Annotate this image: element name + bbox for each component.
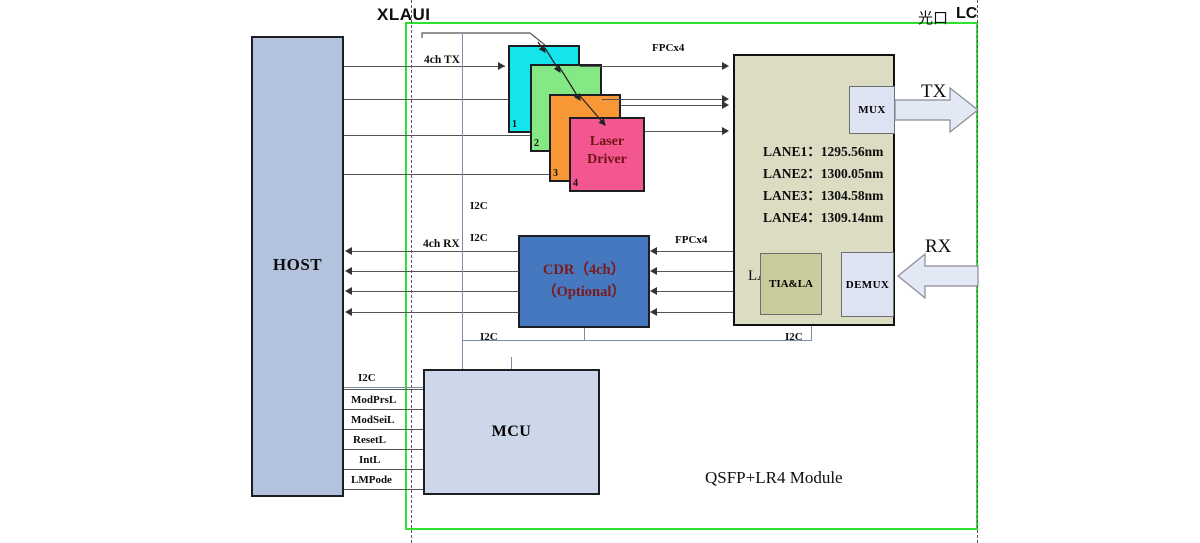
fpc-rx-arrow-2 [650,267,657,275]
fpc-rx-arrow-3 [650,287,657,295]
rx-line-4 [352,312,519,313]
module-name-label: QSFP+LR4 Module [705,468,843,488]
fpc-rx-arrow-4 [650,308,657,316]
fpc-tx-arrow-1 [722,62,729,70]
fpc-tx-line-1 [580,66,725,67]
rx-arrow-2 [345,267,352,275]
rx-line-2 [352,271,519,272]
lan-wdm-lane-2: LANE2：1300.05nm [763,162,883,182]
laser-driver-num-3: 3 [553,168,558,179]
lan-wdm-lane-4: LANE4：1309.14nm [763,206,883,226]
diagram-canvas: XLAUI 光口 LC HOST 4ch TX 1 2 3 4 Laser Dr… [0,0,1200,543]
mcu-signal-line-4 [344,449,423,450]
lan-wdm-lane-3: LANE3：1304.58nm [763,184,883,204]
mcu-signal-label-0: I2C [358,372,376,384]
tx-line-3 [344,135,546,136]
laser-driver-label: Laser Driver [569,133,645,168]
tia-la-block: TIA&LA [760,253,822,315]
laser-driver-num-1: 1 [512,119,517,130]
fpc-tx-line-2 [602,99,725,100]
cdr-label-line2: （Optional） [542,282,626,303]
cdr-block: CDR（4ch） （Optional） [518,235,650,328]
fpc-tx-arrow-3 [722,101,729,109]
host-label: HOST [251,255,344,275]
laser-driver-num-4: 4 [573,178,578,189]
laser-driver-label-line1: Laser [590,134,624,149]
i2c-bus-horizontal [462,340,812,341]
mcu-block: MCU [423,369,600,495]
i2c-label-mid: I2C [470,232,488,244]
mcu-signal-line-1 [344,389,423,390]
fpc-rx-line-1 [656,251,733,252]
mcu-signal-label-4: IntL [359,454,380,466]
laser-driver-num-2: 2 [534,138,539,149]
fpc-tx-arrow-4 [722,127,729,135]
mcu-signal-label-2: ModSeiL [351,414,394,426]
rx-arrow-4 [345,308,352,316]
i2c-stub-mcu [511,357,512,369]
optical-port-label: 光口 [918,7,948,28]
mux-block: MUX [849,86,895,134]
mcu-signal-line-2 [344,409,423,410]
tx-bus-label: 4ch TX [424,54,460,66]
tx-line-2 [344,99,527,100]
xlaui-label: XLAUI [377,5,431,25]
rx-line-3 [352,291,519,292]
mcu-signal-line-6 [344,489,423,490]
mcu-signal-label-3: ResetL [353,434,386,446]
fpc-tx-line-3 [621,105,725,106]
rx-line-1 [352,251,519,252]
fpc-rx-line-3 [656,291,733,292]
i2c-stub-cdr [584,328,585,340]
fpc-rx-line-2 [656,271,733,272]
fpc-rx-line-4 [656,312,733,313]
mcu-signal-label-1: ModPrsL [351,394,396,406]
mcu-signal-line-5 [344,469,423,470]
i2c-mcu-branch [344,387,423,388]
i2c-vertical-main [462,33,463,376]
fpc-rx-arrow-1 [650,247,657,255]
demux-block: DEMUX [841,252,894,317]
boundary-dash-right [977,0,978,543]
mcu-signal-line-3 [344,429,423,430]
i2c-label-cdr: I2C [480,331,498,343]
lc-connector-label: LC [956,5,977,23]
rx-arrow-3 [345,287,352,295]
i2c-label-lanwdm: I2C [785,331,803,343]
tx-line-4 [344,174,566,175]
lan-wdm-lane-1: LANE1：1295.56nm [763,140,883,160]
optical-rx-label: RX [925,236,951,258]
fpc-tx-line-4 [645,131,725,132]
rx-bus-label: 4ch RX [423,238,460,250]
optical-tx-label: TX [921,81,946,103]
fpc-tx-label: FPCx4 [652,42,684,54]
i2c-stub-lanwdm [811,326,812,340]
rx-arrow-1 [345,247,352,255]
cdr-label-line1: CDR（4ch） [543,260,625,281]
tx-line-1 [344,66,505,67]
mcu-signal-label-5: LMPode [351,474,392,486]
tx-arrow-1 [498,62,505,70]
fpc-rx-label: FPCx4 [675,234,707,246]
i2c-label-top: I2C [470,200,488,212]
laser-driver-label-line2: Driver [587,152,627,167]
